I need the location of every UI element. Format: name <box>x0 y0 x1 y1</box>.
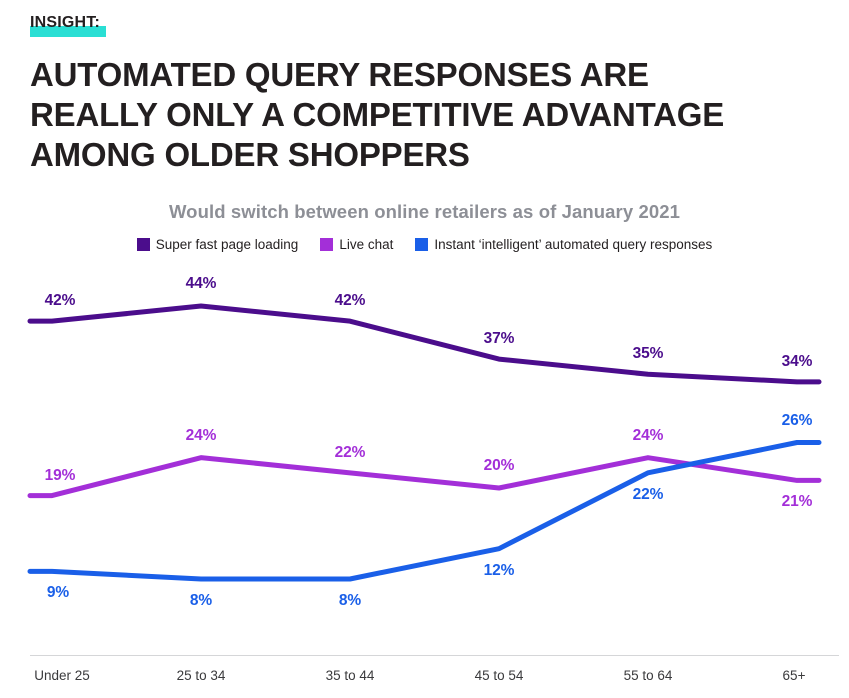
data-point-label: 22% <box>335 444 366 462</box>
legend-label: Instant ‘intelligent’ automated query re… <box>434 237 712 252</box>
insight-kicker: INSIGHT: <box>30 15 102 33</box>
series-line <box>30 443 819 580</box>
data-point-label: 24% <box>186 427 217 445</box>
data-point-label: 37% <box>484 330 515 348</box>
legend-item-instant-automated-query-responses: Instant ‘intelligent’ automated query re… <box>415 237 712 252</box>
line-chart-svg <box>0 266 849 656</box>
data-point-label: 26% <box>782 412 813 430</box>
headline-line-1: AUTOMATED QUERY RESPONSES ARE <box>30 55 830 95</box>
x-axis: Under 2525 to 3435 to 4445 to 5455 to 64… <box>0 656 849 696</box>
legend-label: Super fast page loading <box>156 237 299 252</box>
data-point-label: 44% <box>186 275 217 293</box>
x-axis-tick-label: 45 to 54 <box>475 668 524 683</box>
insight-kicker-label: INSIGHT: <box>30 14 100 31</box>
header: INSIGHT: AUTOMATED QUERY RESPONSES ARE R… <box>0 0 849 175</box>
headline-line-3: AMONG OLDER SHOPPERS <box>30 135 830 175</box>
chart-title: Would switch between online retailers as… <box>0 201 849 223</box>
legend-item-live-chat: Live chat <box>320 237 393 252</box>
data-point-label: 8% <box>339 592 361 610</box>
legend-swatch-icon <box>415 238 428 251</box>
data-point-label: 21% <box>782 493 813 511</box>
data-point-label: 8% <box>190 592 212 610</box>
chart-legend: Super fast page loading Live chat Instan… <box>0 237 849 252</box>
legend-swatch-icon <box>320 238 333 251</box>
series-line <box>30 306 819 382</box>
x-axis-tick-label: 35 to 44 <box>326 668 375 683</box>
data-point-label: 22% <box>633 486 664 504</box>
x-axis-tick-label: 55 to 64 <box>624 668 673 683</box>
data-point-label: 35% <box>633 345 664 363</box>
legend-swatch-icon <box>137 238 150 251</box>
plot-area: 42%44%42%37%35%34%19%24%22%20%24%21%9%8%… <box>0 266 849 656</box>
legend-item-super-fast-page-loading: Super fast page loading <box>137 237 299 252</box>
data-point-label: 42% <box>45 292 76 310</box>
x-axis-tick-label: 25 to 34 <box>177 668 226 683</box>
data-point-label: 24% <box>633 427 664 445</box>
data-point-label: 42% <box>335 292 366 310</box>
headline-line-2: REALLY ONLY A COMPETITIVE ADVANTAGE <box>30 95 830 135</box>
data-point-label: 34% <box>782 353 813 371</box>
data-point-label: 12% <box>484 562 515 580</box>
data-point-label: 9% <box>47 584 69 602</box>
legend-label: Live chat <box>339 237 393 252</box>
page-title: AUTOMATED QUERY RESPONSES ARE REALLY ONL… <box>30 55 830 175</box>
chart-block: Would switch between online retailers as… <box>0 201 849 696</box>
data-point-label: 20% <box>484 457 515 475</box>
x-axis-tick-label: 65+ <box>783 668 806 683</box>
x-axis-tick-label: Under 25 <box>34 668 90 683</box>
data-point-label: 19% <box>45 467 76 485</box>
